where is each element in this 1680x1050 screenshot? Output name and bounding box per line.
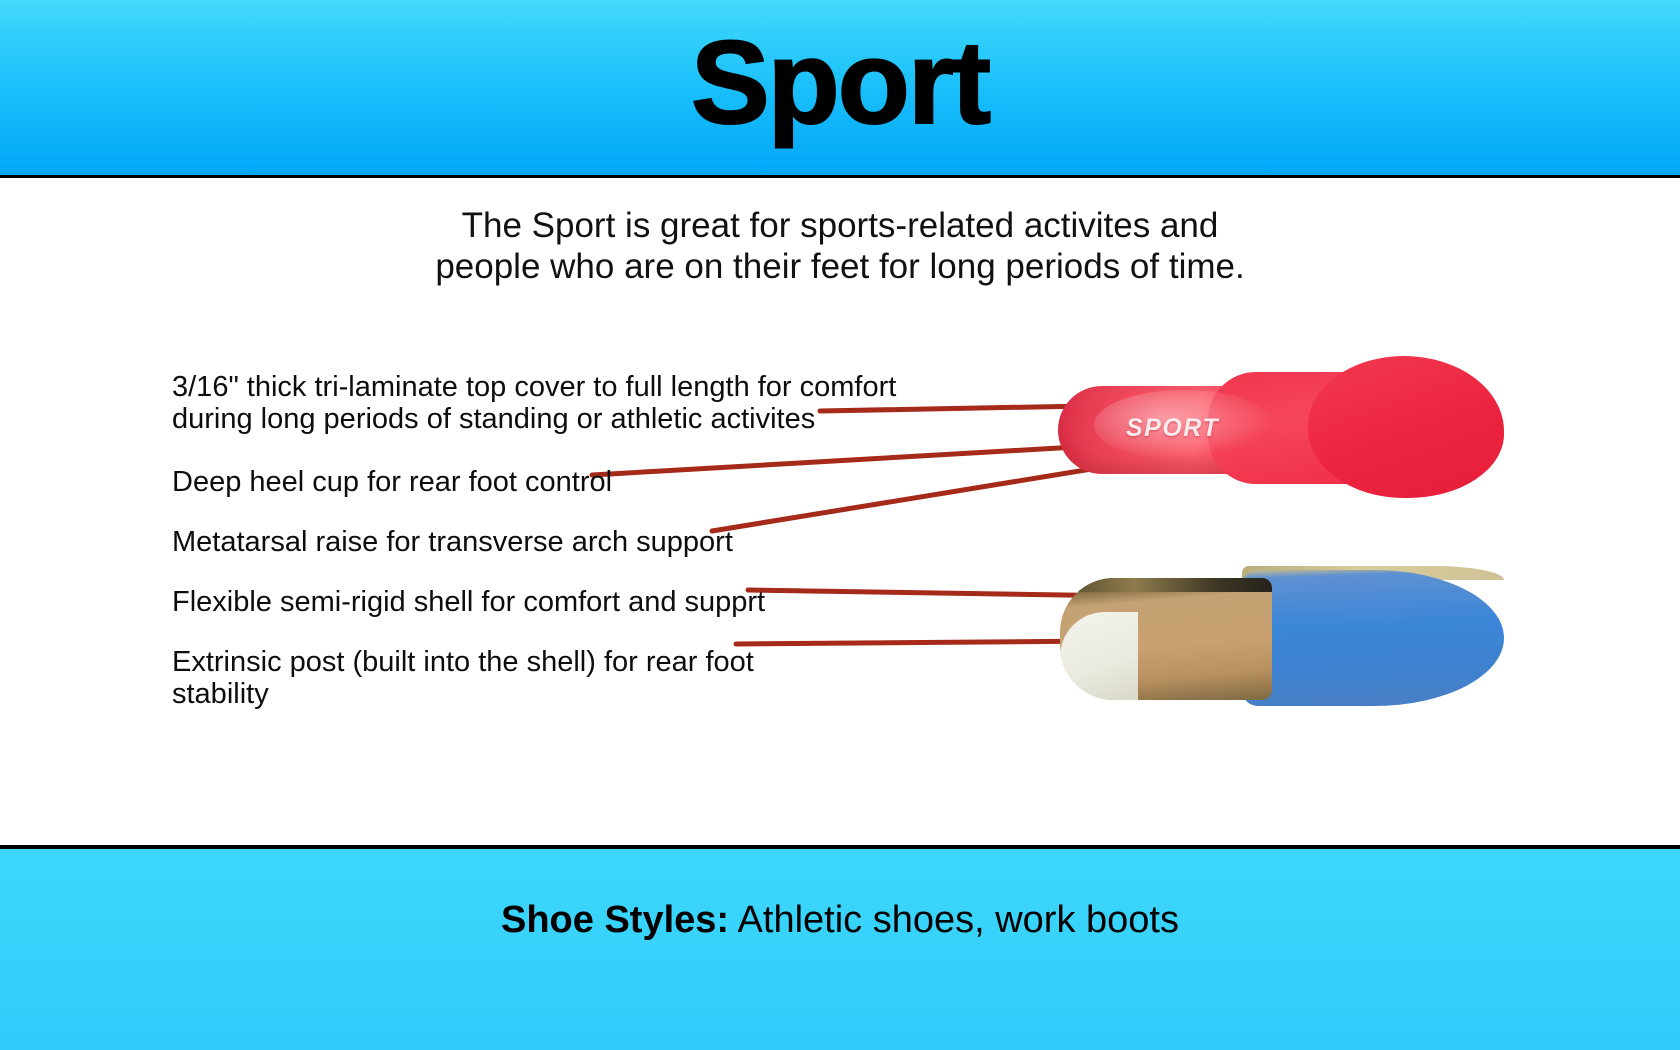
callout-heel-cup: Deep heel cup for rear foot control xyxy=(172,466,612,498)
slide-body: The Sport is great for sports-related ac… xyxy=(0,178,1680,845)
shell-extrinsic-post xyxy=(1060,612,1138,700)
shell-cup-rim xyxy=(1060,578,1272,592)
shoe-styles-value: Athletic shoes, work boots xyxy=(729,899,1179,941)
callout-shell: Flexible semi-rigid shell for comfort an… xyxy=(172,586,765,618)
shoe-styles-label: Shoe Styles: xyxy=(501,899,729,941)
intro-line-2: people who are on their feet for long pe… xyxy=(340,247,1340,288)
leader-line-5 xyxy=(736,641,1104,644)
shell-body xyxy=(1242,570,1504,706)
callout-top-cover: 3/16" thick tri-laminate top cover to fu… xyxy=(172,371,896,436)
insole-forefoot xyxy=(1308,356,1504,498)
slide: Sport The Sport is great for sports-rela… xyxy=(0,0,1680,1050)
callout-extrinsic-post: Extrinsic post (built into the shell) fo… xyxy=(172,646,754,711)
callout-metatarsal: Metatarsal raise for transverse arch sup… xyxy=(172,526,733,558)
footer-band: Shoe Styles: Athletic shoes, work boots xyxy=(0,845,1680,1050)
header-band: Sport xyxy=(0,0,1680,178)
intro-line-1: The Sport is great for sports-related ac… xyxy=(340,206,1340,247)
shell-heel-cup xyxy=(1060,578,1272,700)
page-title: Sport xyxy=(0,22,1680,146)
blue-shell-image xyxy=(1058,556,1500,706)
insole-brand-label: SPORT xyxy=(1126,414,1219,443)
intro-paragraph: The Sport is great for sports-related ac… xyxy=(340,206,1340,287)
shoe-styles-line: Shoe Styles: Athletic shoes, work boots xyxy=(0,899,1680,942)
red-insole-image: SPORT xyxy=(1058,350,1500,500)
